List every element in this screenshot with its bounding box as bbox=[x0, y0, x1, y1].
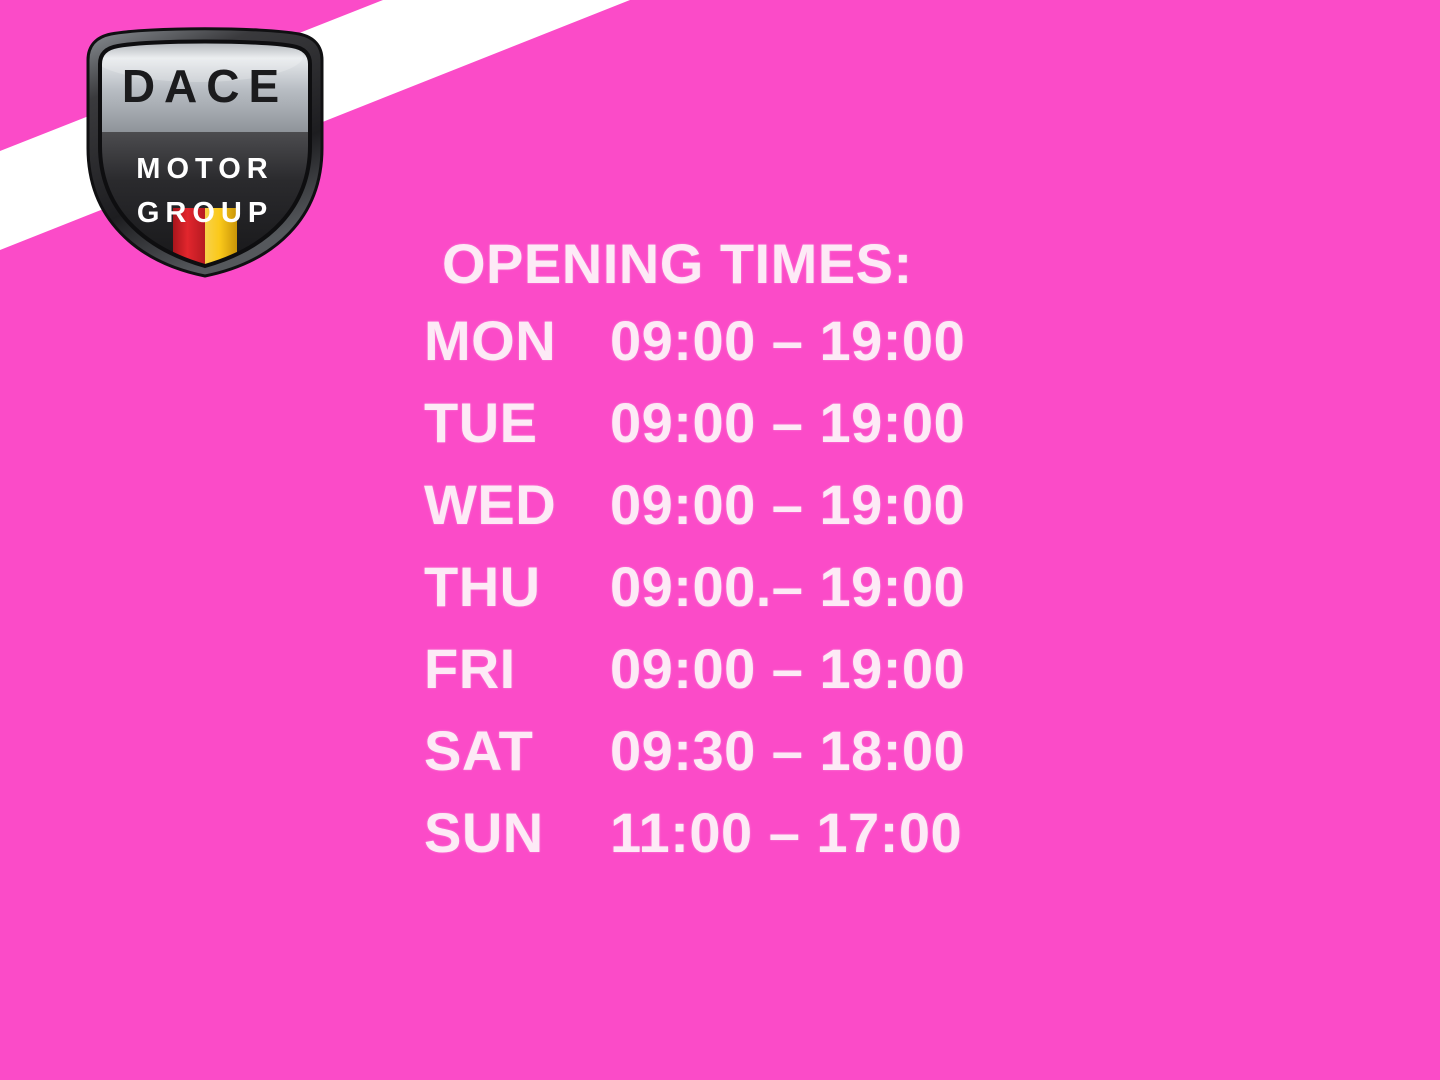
hours-value-mon: 09:00 – 19:00 bbox=[610, 300, 965, 382]
day-label-thu: THU bbox=[424, 546, 610, 628]
dace-motor-group-logo: DACE MOTOR GROUP bbox=[78, 26, 332, 278]
day-label-sat: SAT bbox=[424, 710, 610, 792]
hours-value-wed: 09:00 – 19:00 bbox=[610, 464, 965, 546]
logo-text-group: GROUP bbox=[137, 197, 273, 229]
hours-value-fri: 09:00 – 19:00 bbox=[610, 628, 965, 710]
logo-text-dace: DACE bbox=[122, 60, 288, 112]
logo-text-motor: MOTOR bbox=[136, 153, 273, 185]
day-label-sun: SUN bbox=[424, 792, 610, 874]
hours-value-thu: 09:00.– 19:00 bbox=[610, 546, 965, 628]
opening-times-block: OPENING TIMES: MON 09:00 – 19:00 TUE 09:… bbox=[424, 228, 1044, 874]
day-label-fri: FRI bbox=[424, 628, 610, 710]
schedule-row-fri: FRI 09:00 – 19:00 bbox=[424, 628, 1044, 710]
hours-value-tue: 09:00 – 19:00 bbox=[610, 382, 965, 464]
schedule-row-mon: MON 09:00 – 19:00 bbox=[424, 300, 1044, 382]
schedule-row-tue: TUE 09:00 – 19:00 bbox=[424, 382, 1044, 464]
schedule-row-thu: THU 09:00.– 19:00 bbox=[424, 546, 1044, 628]
day-label-tue: TUE bbox=[424, 382, 610, 464]
day-label-mon: MON bbox=[424, 300, 610, 382]
opening-times-heading: OPENING TIMES: bbox=[424, 228, 1044, 300]
opening-times-poster: DACE MOTOR GROUP OPENING TIMES: MON 09:0… bbox=[0, 0, 1440, 1080]
hours-value-sun: 11:00 – 17:00 bbox=[610, 792, 962, 874]
hours-value-sat: 09:30 – 18:00 bbox=[610, 710, 965, 792]
schedule-row-sat: SAT 09:30 – 18:00 bbox=[424, 710, 1044, 792]
shield-icon: DACE MOTOR GROUP bbox=[78, 26, 332, 278]
schedule-row-sun: SUN 11:00 – 17:00 bbox=[424, 792, 1044, 874]
day-label-wed: WED bbox=[424, 464, 610, 546]
schedule-row-wed: WED 09:00 – 19:00 bbox=[424, 464, 1044, 546]
